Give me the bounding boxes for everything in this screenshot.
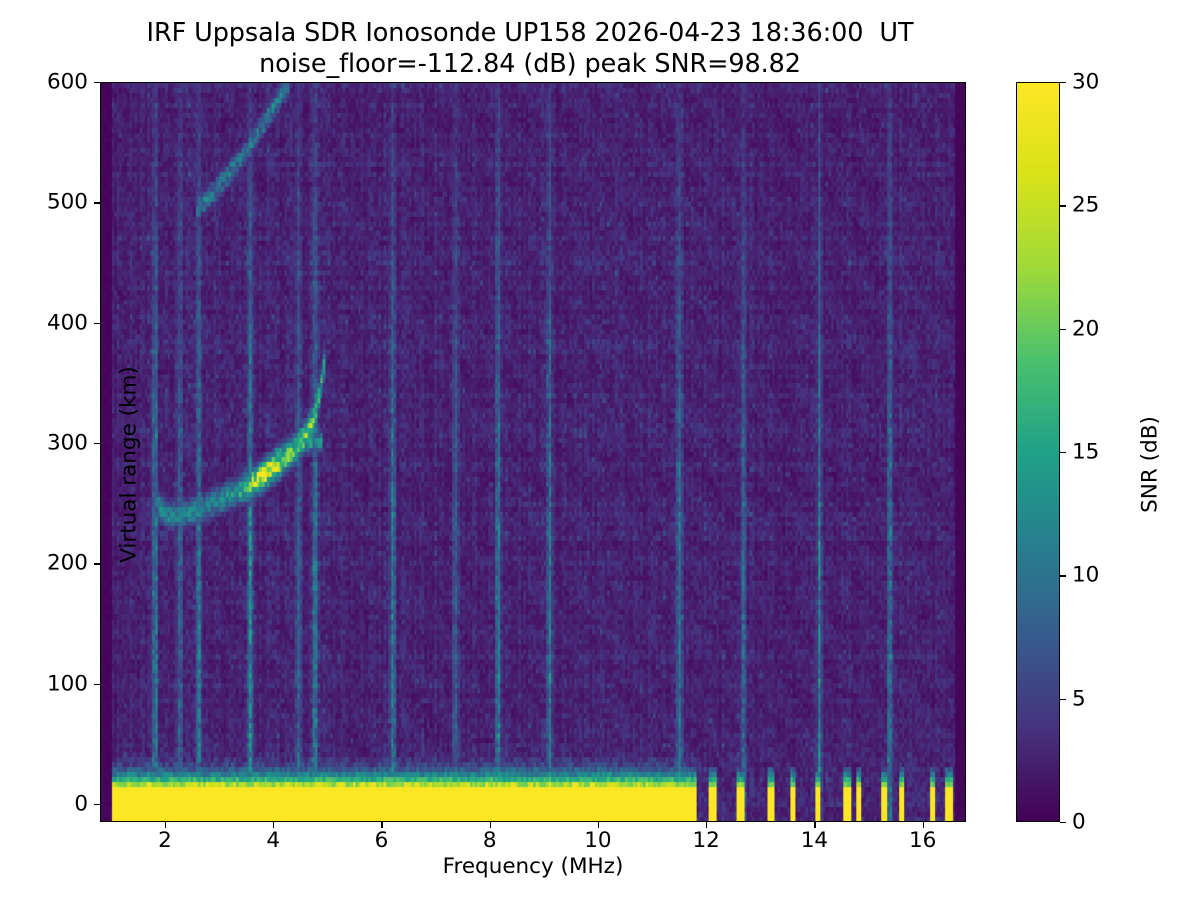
x-tick-label-8: 8 [445, 828, 535, 853]
colorbar-tick-label-20: 20 [1072, 316, 1099, 341]
colorbar-tick-label-0: 0 [1072, 810, 1086, 835]
colorbar-tick-mark [1060, 205, 1066, 206]
y-tick-label-600: 600 [0, 70, 88, 95]
y-tick-mark [94, 684, 100, 685]
colorbar-tick-label-10: 10 [1072, 563, 1099, 588]
colorbar-tick-mark [1060, 822, 1066, 823]
x-tick-mark [381, 822, 382, 828]
colorbar-tick-mark [1060, 329, 1066, 330]
colorbar[interactable] [1016, 82, 1060, 822]
y-tick-label-300: 300 [0, 430, 88, 455]
colorbar-tick-mark [1060, 452, 1066, 453]
y-tick-mark [94, 443, 100, 444]
colorbar-label: SNR (dB) [1138, 315, 1163, 615]
colorbar-tick-mark [1060, 575, 1066, 576]
x-tick-label-6: 6 [336, 828, 426, 853]
title-line-1: IRF Uppsala SDR Ionosonde UP158 2026-04-… [0, 18, 1060, 49]
x-tick-mark [598, 822, 599, 828]
x-tick-mark [490, 822, 491, 828]
colorbar-tick-label-30: 30 [1072, 70, 1099, 95]
x-tick-label-12: 12 [661, 828, 751, 853]
ionogram-plot-area[interactable] [100, 82, 966, 822]
x-tick-label-16: 16 [878, 828, 968, 853]
x-tick-label-14: 14 [769, 828, 859, 853]
y-tick-mark [94, 804, 100, 805]
colorbar-tick-mark [1060, 82, 1066, 83]
figure-title: IRF Uppsala SDR Ionosonde UP158 2026-04-… [0, 18, 1060, 80]
y-tick-mark [94, 563, 100, 564]
y-tick-label-500: 500 [0, 190, 88, 215]
colorbar-tick-label-25: 25 [1072, 193, 1099, 218]
y-axis-label: Virtual range (km) [117, 315, 142, 615]
x-tick-mark [923, 822, 924, 828]
colorbar-tick-label-5: 5 [1072, 686, 1086, 711]
x-tick-mark [706, 822, 707, 828]
y-tick-label-200: 200 [0, 551, 88, 576]
colorbar-tick-label-15: 15 [1072, 440, 1099, 465]
x-axis-label: Frequency (MHz) [100, 854, 966, 879]
colorbar-tick-mark [1060, 699, 1066, 700]
colorbar-gradient [1017, 83, 1059, 821]
ionogram-heatmap [101, 83, 965, 821]
x-tick-label-10: 10 [553, 828, 643, 853]
x-tick-mark [814, 822, 815, 828]
y-tick-mark [94, 202, 100, 203]
y-tick-label-400: 400 [0, 310, 88, 335]
x-tick-label-4: 4 [228, 828, 318, 853]
y-tick-mark [94, 82, 100, 83]
y-tick-label-100: 100 [0, 671, 88, 696]
x-tick-label-2: 2 [120, 828, 210, 853]
title-line-2: noise_floor=-112.84 (dB) peak SNR=98.82 [0, 49, 1060, 80]
ionogram-figure: IRF Uppsala SDR Ionosonde UP158 2026-04-… [0, 0, 1200, 900]
y-tick-mark [94, 323, 100, 324]
x-tick-mark [273, 822, 274, 828]
y-tick-label-0: 0 [0, 791, 88, 816]
x-tick-mark [165, 822, 166, 828]
